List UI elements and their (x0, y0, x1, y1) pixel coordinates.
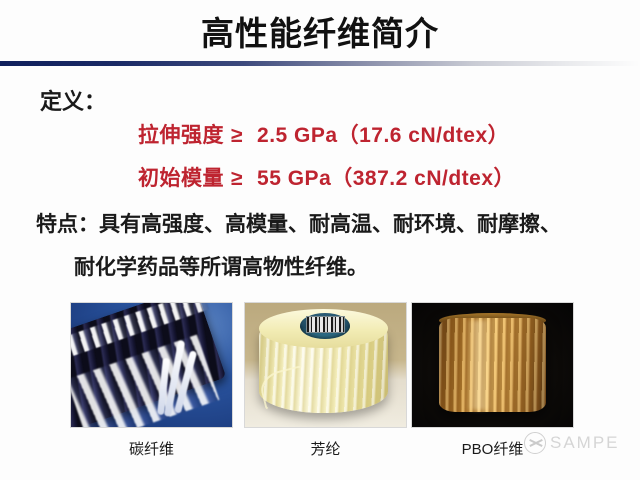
formula-altvalue-1: （17.6 cN/dtex） (338, 124, 510, 147)
formula-value-1: 2.5 GPa (257, 124, 338, 147)
figure-caption-carbon-fiber: 碳纤维 (70, 438, 233, 459)
definition-formula-tensile-strength: 拉伸强度≥2.5 GPa（17.6 cN/dtex） (138, 119, 509, 149)
aramid-spool-photo-icon (245, 303, 406, 427)
watermark: SAMPE (524, 432, 620, 454)
formula-altvalue-2: （387.2 cN/dtex） (331, 167, 515, 190)
definition-label: 定义： (40, 84, 106, 116)
formula-property-1: 拉伸强度 (138, 124, 224, 147)
sampe-logo-icon (524, 432, 546, 454)
pbo-spool-sheen (465, 320, 492, 409)
features-line-2: 耐化学药品等所谓高物性纤维。 (74, 251, 368, 281)
figure-caption-aramid: 芳纶 (244, 438, 407, 459)
formula-operator-2: ≥ (231, 167, 243, 190)
formula-operator-1: ≥ (231, 124, 243, 147)
figure-pbo (411, 302, 574, 428)
slide-title-area: 高性能纤维简介 (0, 8, 640, 58)
title-divider-rule (0, 61, 640, 66)
watermark-text: SAMPE (550, 433, 620, 453)
definition-formula-initial-modulus: 初始模量≥55 GPa（387.2 cN/dtex） (138, 162, 515, 192)
pbo-spool-photo-icon (412, 303, 573, 427)
figure-carbon-fiber (70, 302, 233, 428)
features-line-1: 特点：具有高强度、高模量、耐高温、耐环境、耐摩擦、 (36, 208, 561, 238)
formula-value-2: 55 GPa (257, 167, 331, 190)
figure-aramid (244, 302, 407, 428)
pbo-spool-body (439, 318, 545, 412)
aramid-spool-label (306, 316, 345, 333)
page-title: 高性能纤维简介 (201, 17, 439, 50)
carbon-fiber-photo-icon (71, 303, 232, 427)
formula-property-2: 初始模量 (138, 167, 224, 190)
slide-canvas: 高性能纤维简介 定义： 拉伸强度≥2.5 GPa（17.6 cN/dtex） 初… (0, 0, 640, 480)
